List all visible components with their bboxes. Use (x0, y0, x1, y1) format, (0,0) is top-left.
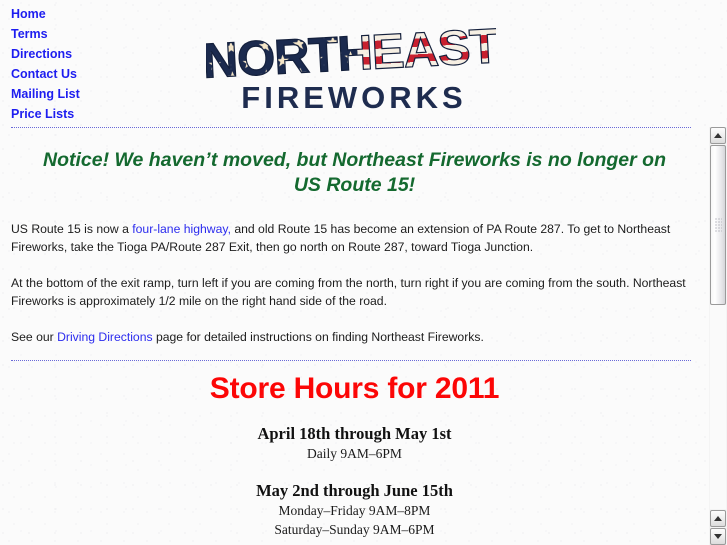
scroll-up-button[interactable] (710, 127, 726, 144)
hours-block: May 2nd through June 15th Monday–Friday … (0, 480, 709, 539)
paragraph-exit-ramp: At the bottom of the exit ramp, turn lef… (11, 274, 697, 310)
triangle-down-icon (714, 534, 722, 539)
scrollbar-thumb[interactable] (710, 145, 726, 305)
nav-item-mailing-list[interactable]: Mailing List (11, 84, 191, 104)
divider-hours (11, 360, 691, 361)
main-navigation: Home Terms Directions Contact Us Mailing… (11, 4, 191, 124)
nav-item-price-lists[interactable]: Price Lists (11, 104, 191, 124)
store-hours-title: Store Hours for 2011 (0, 372, 709, 406)
see-our-text: See our (11, 330, 57, 344)
hours-detail: Monday–Friday 9AM–8PM (0, 501, 709, 520)
paragraph-route-text-before: US Route 15 is now a (11, 222, 132, 236)
paragraph-see-our-directions: See our Driving Directions page for deta… (11, 328, 697, 346)
hours-block: April 18th through May 1st Daily 9AM–6PM (0, 423, 709, 463)
page-header: Home Terms Directions Contact Us Mailing… (0, 0, 709, 127)
svg-text:FIREWORKS: FIREWORKS (241, 80, 466, 114)
triangle-up-icon (714, 516, 722, 521)
notice-heading: Notice! We haven’t moved, but Northeast … (32, 148, 677, 198)
nav-item-contact-us[interactable]: Contact Us (11, 64, 191, 84)
scroll-up-button-bottom[interactable] (710, 510, 726, 527)
nav-item-home[interactable]: Home (11, 4, 191, 24)
nav-item-terms[interactable]: Terms (11, 24, 191, 44)
hours-detail: Daily 9AM–6PM (0, 444, 709, 463)
four-lane-highway-link[interactable]: four-lane highway, (132, 222, 231, 236)
triangle-up-icon (714, 133, 722, 138)
driving-directions-link[interactable]: Driving Directions (57, 330, 153, 344)
svg-text:NORTHEAST: NORTHEAST (206, 19, 496, 88)
scrollbar-grip-icon (715, 218, 722, 232)
vertical-scrollbar[interactable] (709, 127, 727, 545)
divider-top (11, 127, 691, 128)
nav-item-directions[interactable]: Directions (11, 44, 191, 64)
directions-text-after: page for detailed instructions on findin… (153, 330, 484, 344)
hours-range: May 2nd through June 15th (0, 480, 709, 501)
page-viewport: Home Terms Directions Contact Us Mailing… (0, 0, 709, 545)
scroll-down-button[interactable] (710, 528, 726, 545)
hours-detail: Saturday–Sunday 9AM–6PM (0, 520, 709, 539)
site-logo[interactable]: NORTHEAST NORTHEAST NORTHEAST FIREWORKS (206, 18, 496, 114)
paragraph-route-info: US Route 15 is now a four-lane highway, … (11, 220, 697, 256)
hours-range: April 18th through May 1st (0, 423, 709, 444)
